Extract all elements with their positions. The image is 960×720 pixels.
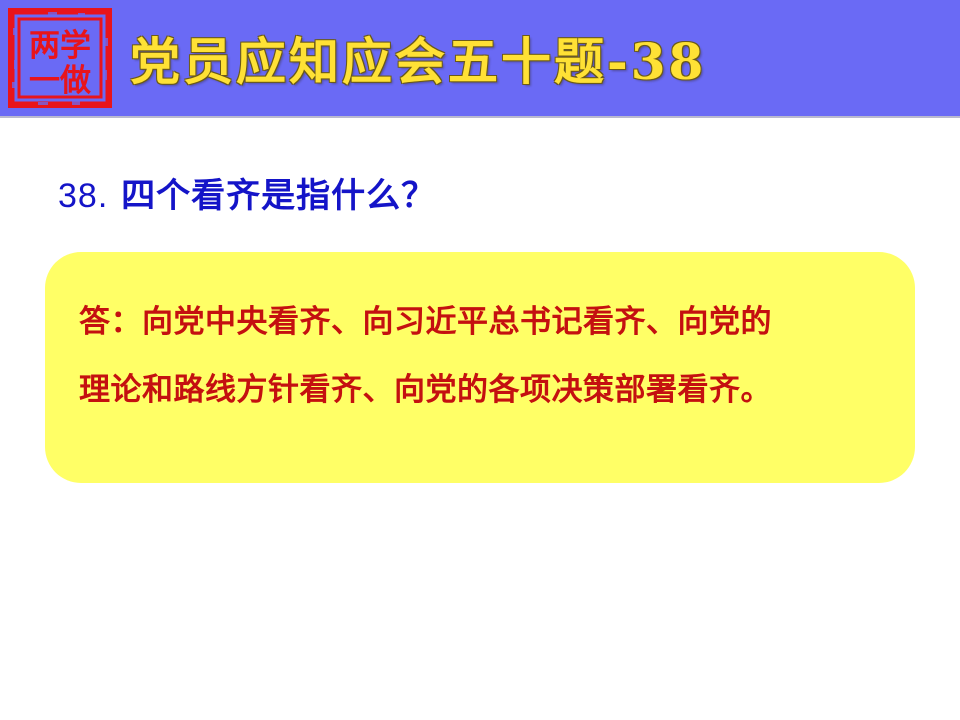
question-number: 38. (58, 177, 108, 215)
seal-line-1: 两学 (29, 28, 91, 64)
answer-text: 答：向党中央看齐、向习近平总书记看齐、向党的 理论和路线方针看齐、向党的各项决策… (79, 288, 881, 424)
question-text: 四个看齐是指什么？ (121, 176, 436, 216)
answer-line: 答：向党中央看齐、向习近平总书记看齐、向党的 (79, 288, 881, 356)
slide-body-blank-area (0, 490, 960, 720)
header-banner: 两学 一做 党员应知应会五十题-38 (0, 0, 960, 118)
slide-root: 两学 一做 党员应知应会五十题-38 38. 四个看 (0, 0, 960, 720)
answer-line: 理论和路线方针看齐、向党的各项决策部署看齐。 (79, 356, 881, 424)
question-line: 38. 四个看齐是指什么？ (58, 168, 436, 217)
answer-box: 答：向党中央看齐、向习近平总书记看齐、向党的 理论和路线方针看齐、向党的各项决策… (45, 252, 915, 483)
seal-line-2: 一做 (29, 63, 91, 99)
seal-stamp: 两学 一做 (8, 8, 112, 108)
page-title: 党员应知应会五十题-38 (130, 22, 706, 94)
